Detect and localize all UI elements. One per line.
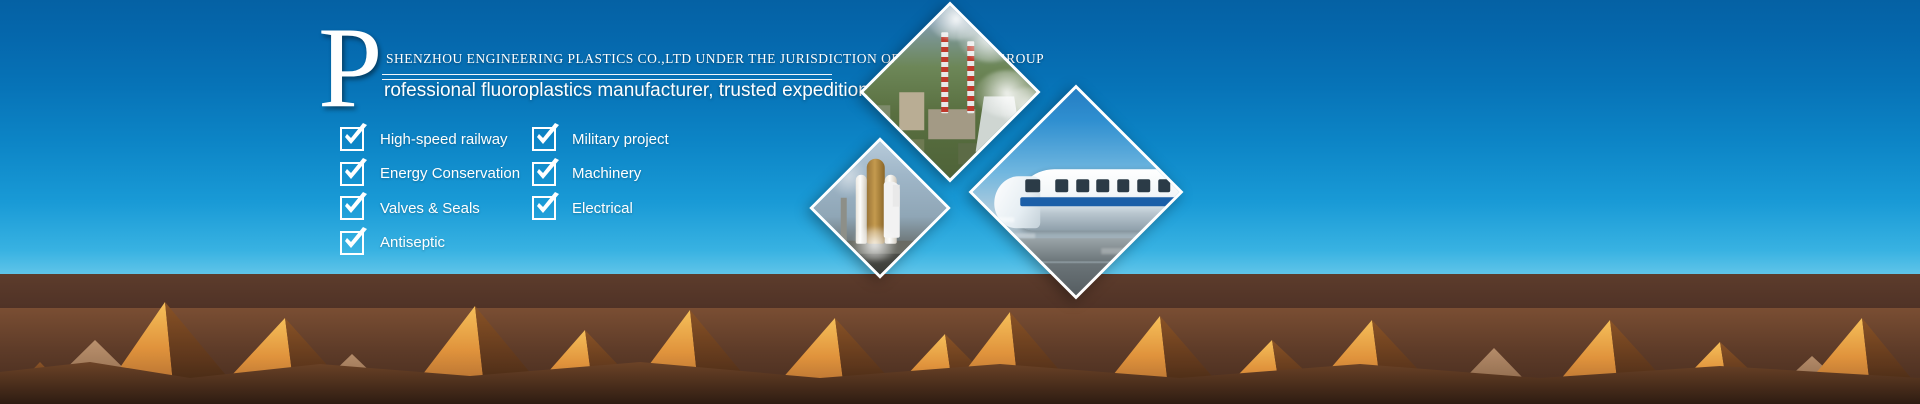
checkbox-checked-icon[interactable] <box>340 162 364 186</box>
feature-label: Military project <box>572 131 669 148</box>
feature-label: Machinery <box>572 165 641 182</box>
brand-block: P SHENZHOU ENGINEERING PLASTICS CO.,LTD … <box>318 14 858 124</box>
feature-item-antiseptic[interactable]: Antiseptic <box>340 226 520 260</box>
feature-column-one: High-speed railway Energy Conservation V… <box>340 122 520 260</box>
logo-letter-p: P <box>318 10 381 126</box>
promo-banner: P SHENZHOU ENGINEERING PLASTICS CO.,LTD … <box>0 0 1920 404</box>
feature-item-electrical[interactable]: Electrical <box>532 191 669 225</box>
checkbox-checked-icon[interactable] <box>340 196 364 220</box>
checkbox-checked-icon[interactable] <box>340 231 364 255</box>
checkbox-checked-icon[interactable] <box>532 196 556 220</box>
checkbox-checked-icon[interactable] <box>532 127 556 151</box>
feature-item-high-speed-railway[interactable]: High-speed railway <box>340 122 520 156</box>
feature-item-energy-conservation[interactable]: Energy Conservation <box>340 157 520 191</box>
feature-item-valves-and-seals[interactable]: Valves & Seals <box>340 191 520 225</box>
feature-item-machinery[interactable]: Machinery <box>532 157 669 191</box>
feature-label: Valves & Seals <box>380 200 480 217</box>
feature-item-military-project[interactable]: Military project <box>532 122 669 156</box>
checkbox-checked-icon[interactable] <box>532 162 556 186</box>
feature-label: High-speed railway <box>380 131 508 148</box>
feature-column-two: Military project Machinery Electrical <box>532 122 669 226</box>
feature-label: Antiseptic <box>380 234 445 251</box>
checkbox-checked-icon[interactable] <box>340 127 364 151</box>
feature-label: Energy Conservation <box>380 165 520 182</box>
feature-label: Electrical <box>572 200 633 217</box>
photo-collage <box>810 10 1230 310</box>
